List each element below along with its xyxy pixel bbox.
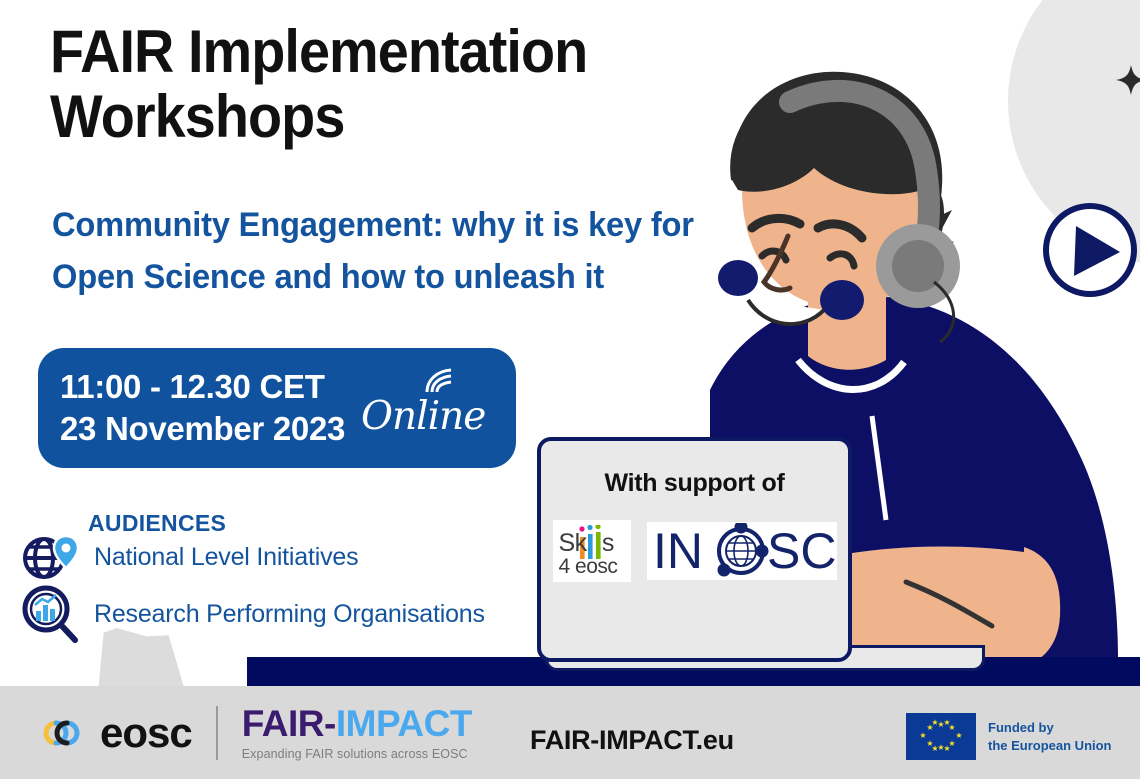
event-date: 23 November 2023: [60, 408, 345, 450]
svg-text:★: ★: [943, 744, 950, 753]
magnifier-bar-chart-icon: [22, 585, 80, 643]
svg-text:★: ★: [931, 744, 938, 753]
page-subtitle: Community Engagement: why it is key for …: [52, 200, 782, 303]
online-label-wrap: Online: [361, 386, 485, 431]
poster-canvas: FAIR Implementation Workshops Community …: [0, 0, 1140, 779]
skills4eosc-logo: Skills 4 eosc: [553, 520, 631, 582]
fair-impact-tagline: Expanding FAIR solutions across EOSC: [242, 748, 472, 761]
online-label: Online: [361, 394, 485, 439]
fair-impact-logo: FAIR-IMPACT Expanding FAIR solutions acr…: [242, 705, 472, 761]
eosc-infinity-mark-icon: [36, 715, 86, 751]
skills-logo-line1: Skills: [559, 532, 625, 556]
svg-text:★: ★: [943, 718, 950, 727]
svg-text:★: ★: [955, 731, 962, 740]
eu-funding-line2: the European Union: [988, 737, 1112, 755]
footer-divider: [216, 706, 218, 760]
eu-funding-block: ★ ★ ★ ★ ★ ★ ★ ★ ★ ★ ★ ★ Funded by the Eu…: [906, 713, 1112, 760]
eu-flag-icon: ★ ★ ★ ★ ★ ★ ★ ★ ★ ★ ★ ★: [906, 713, 976, 760]
audience-item-research-performing-organisations: Research Performing Organisations: [22, 585, 485, 643]
eu-funding-line1: Funded by: [988, 719, 1112, 737]
audience-label: Research Performing Organisations: [94, 600, 485, 629]
date-time-badge: 11:00 - 12.30 CET 23 November 2023 Onlin…: [38, 348, 516, 468]
eu-funding-text: Funded by the European Union: [988, 719, 1112, 754]
skills-logo-line2: 4 eosc: [559, 556, 625, 578]
wifi-signal-icon: [423, 368, 457, 394]
eosc-wordmark: eosc: [100, 712, 192, 754]
support-heading: With support of: [605, 469, 785, 498]
audience-item-national-level-initiatives: National Level Initiatives: [22, 534, 358, 580]
play-button-icon[interactable]: [1040, 200, 1140, 300]
audience-label: National Level Initiatives: [94, 543, 358, 572]
footer-logos: eosc FAIR-IMPACT Expanding FAIR solution…: [36, 705, 472, 761]
website-url[interactable]: FAIR-IMPACT.eu: [530, 725, 734, 756]
svg-text:★: ★: [919, 731, 926, 740]
audiences-heading: AUDIENCES: [88, 510, 226, 537]
svg-text:IN: IN: [653, 523, 703, 579]
inosc-logo-mark: IN SC: [649, 523, 835, 579]
svg-text:SC: SC: [767, 523, 835, 579]
support-logo-row: Skills 4 eosc IN SC: [553, 520, 837, 582]
fair-impact-second-part: IMPACT: [336, 703, 472, 744]
event-time: 11:00 - 12.30 CET: [60, 366, 345, 408]
svg-text:★: ★: [931, 718, 938, 727]
support-panel: With support of Skills 4 eosc IN SC: [537, 437, 852, 662]
page-title: FAIR Implementation Workshops: [50, 20, 701, 150]
globe-location-pin-icon: [22, 534, 80, 580]
inosc-logo: IN SC: [647, 522, 837, 580]
fair-impact-first-part: FAIR-: [242, 703, 336, 744]
